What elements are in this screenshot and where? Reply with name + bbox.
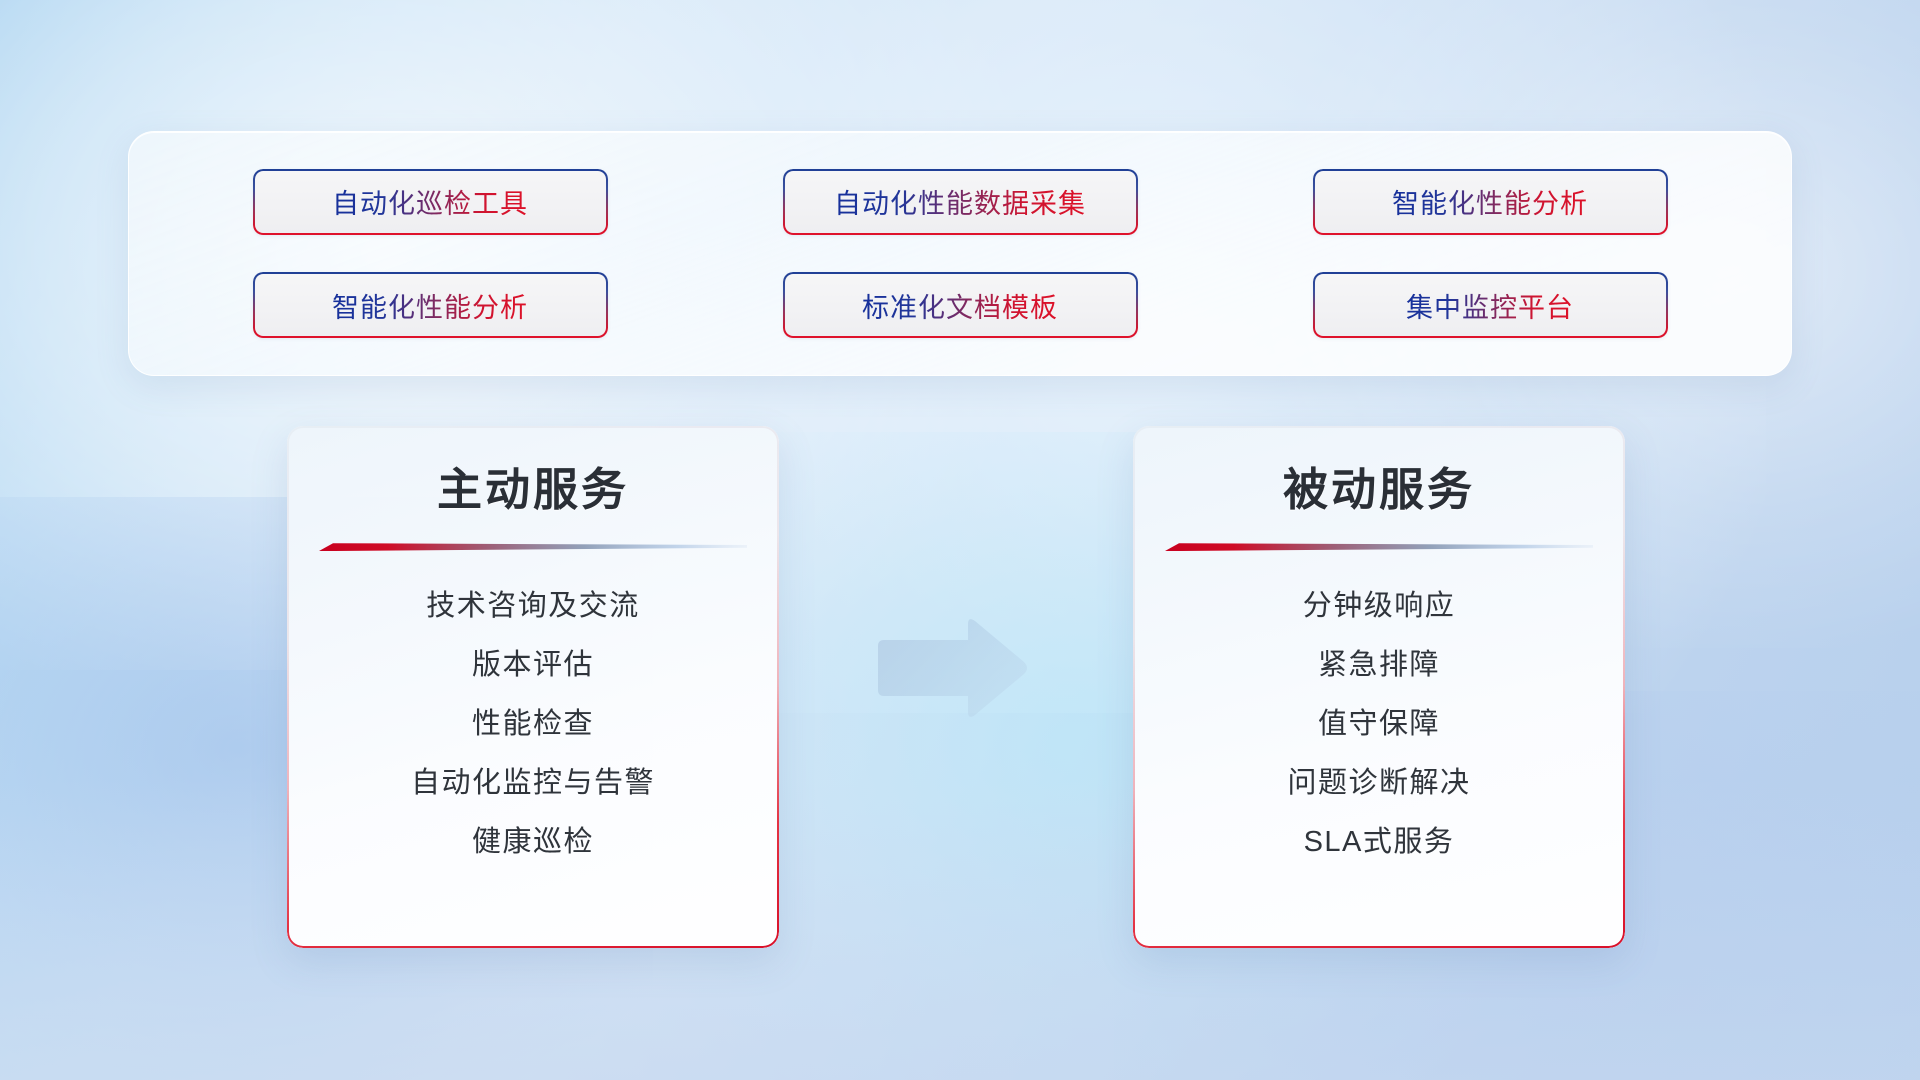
tool-pill-2[interactable]: 自动化性能数据采集 <box>783 169 1138 235</box>
tool-pill-4[interactable]: 智能化性能分析 <box>253 272 608 338</box>
list-item: 版本评估 <box>472 636 594 695</box>
tools-panel: 自动化巡检工具 自动化性能数据采集 智能化性能分析 智能化性能分析 标准化文档模… <box>128 131 1792 376</box>
slide-stage: 自动化巡检工具 自动化性能数据采集 智能化性能分析 智能化性能分析 标准化文档模… <box>0 0 1920 1080</box>
card-title: 被动服务 <box>1133 453 1625 518</box>
list-item: 健康巡检 <box>472 813 594 872</box>
tool-pill-3[interactable]: 智能化性能分析 <box>1313 169 1668 235</box>
list-item: SLA式服务 <box>1304 813 1455 872</box>
card-list: 分钟级响应 紧急排障 值守保障 问题诊断解决 SLA式服务 <box>1133 577 1625 872</box>
tool-pill-label: 智能化性能分析 <box>1392 182 1588 221</box>
tool-pill-label: 自动化巡检工具 <box>332 182 528 221</box>
tool-pill-label: 集中监控平台 <box>1406 286 1574 325</box>
list-item: 自动化监控与告警 <box>411 754 655 813</box>
service-card-active[interactable]: 主动服务 技术咨询及交流 版本评估 性能检查 <box>287 426 779 948</box>
tool-pill-1[interactable]: 自动化巡检工具 <box>253 169 608 235</box>
tool-pill-5[interactable]: 标准化文档模板 <box>783 272 1138 338</box>
card-divider-gradient <box>1165 542 1593 551</box>
card-title: 主动服务 <box>287 453 779 518</box>
card-divider-gradient <box>319 542 747 551</box>
tool-pill-label: 自动化性能数据采集 <box>834 182 1086 221</box>
list-item: 技术咨询及交流 <box>426 577 640 636</box>
list-item: 紧急排障 <box>1318 636 1440 695</box>
list-item: 值守保障 <box>1318 695 1440 754</box>
list-item: 性能检查 <box>472 695 594 754</box>
tool-pill-6[interactable]: 集中监控平台 <box>1313 272 1668 338</box>
tool-pill-label: 标准化文档模板 <box>862 286 1058 325</box>
tool-pill-label: 智能化性能分析 <box>332 286 528 325</box>
service-card-passive[interactable]: 被动服务 分钟级响应 紧急排障 值守保障 <box>1133 426 1625 948</box>
card-list: 技术咨询及交流 版本评估 性能检查 自动化监控与告警 健康巡检 <box>287 577 779 872</box>
flow-arrow-icon <box>872 614 1030 722</box>
list-item: 问题诊断解决 <box>1287 754 1470 813</box>
list-item: 分钟级响应 <box>1303 577 1456 636</box>
